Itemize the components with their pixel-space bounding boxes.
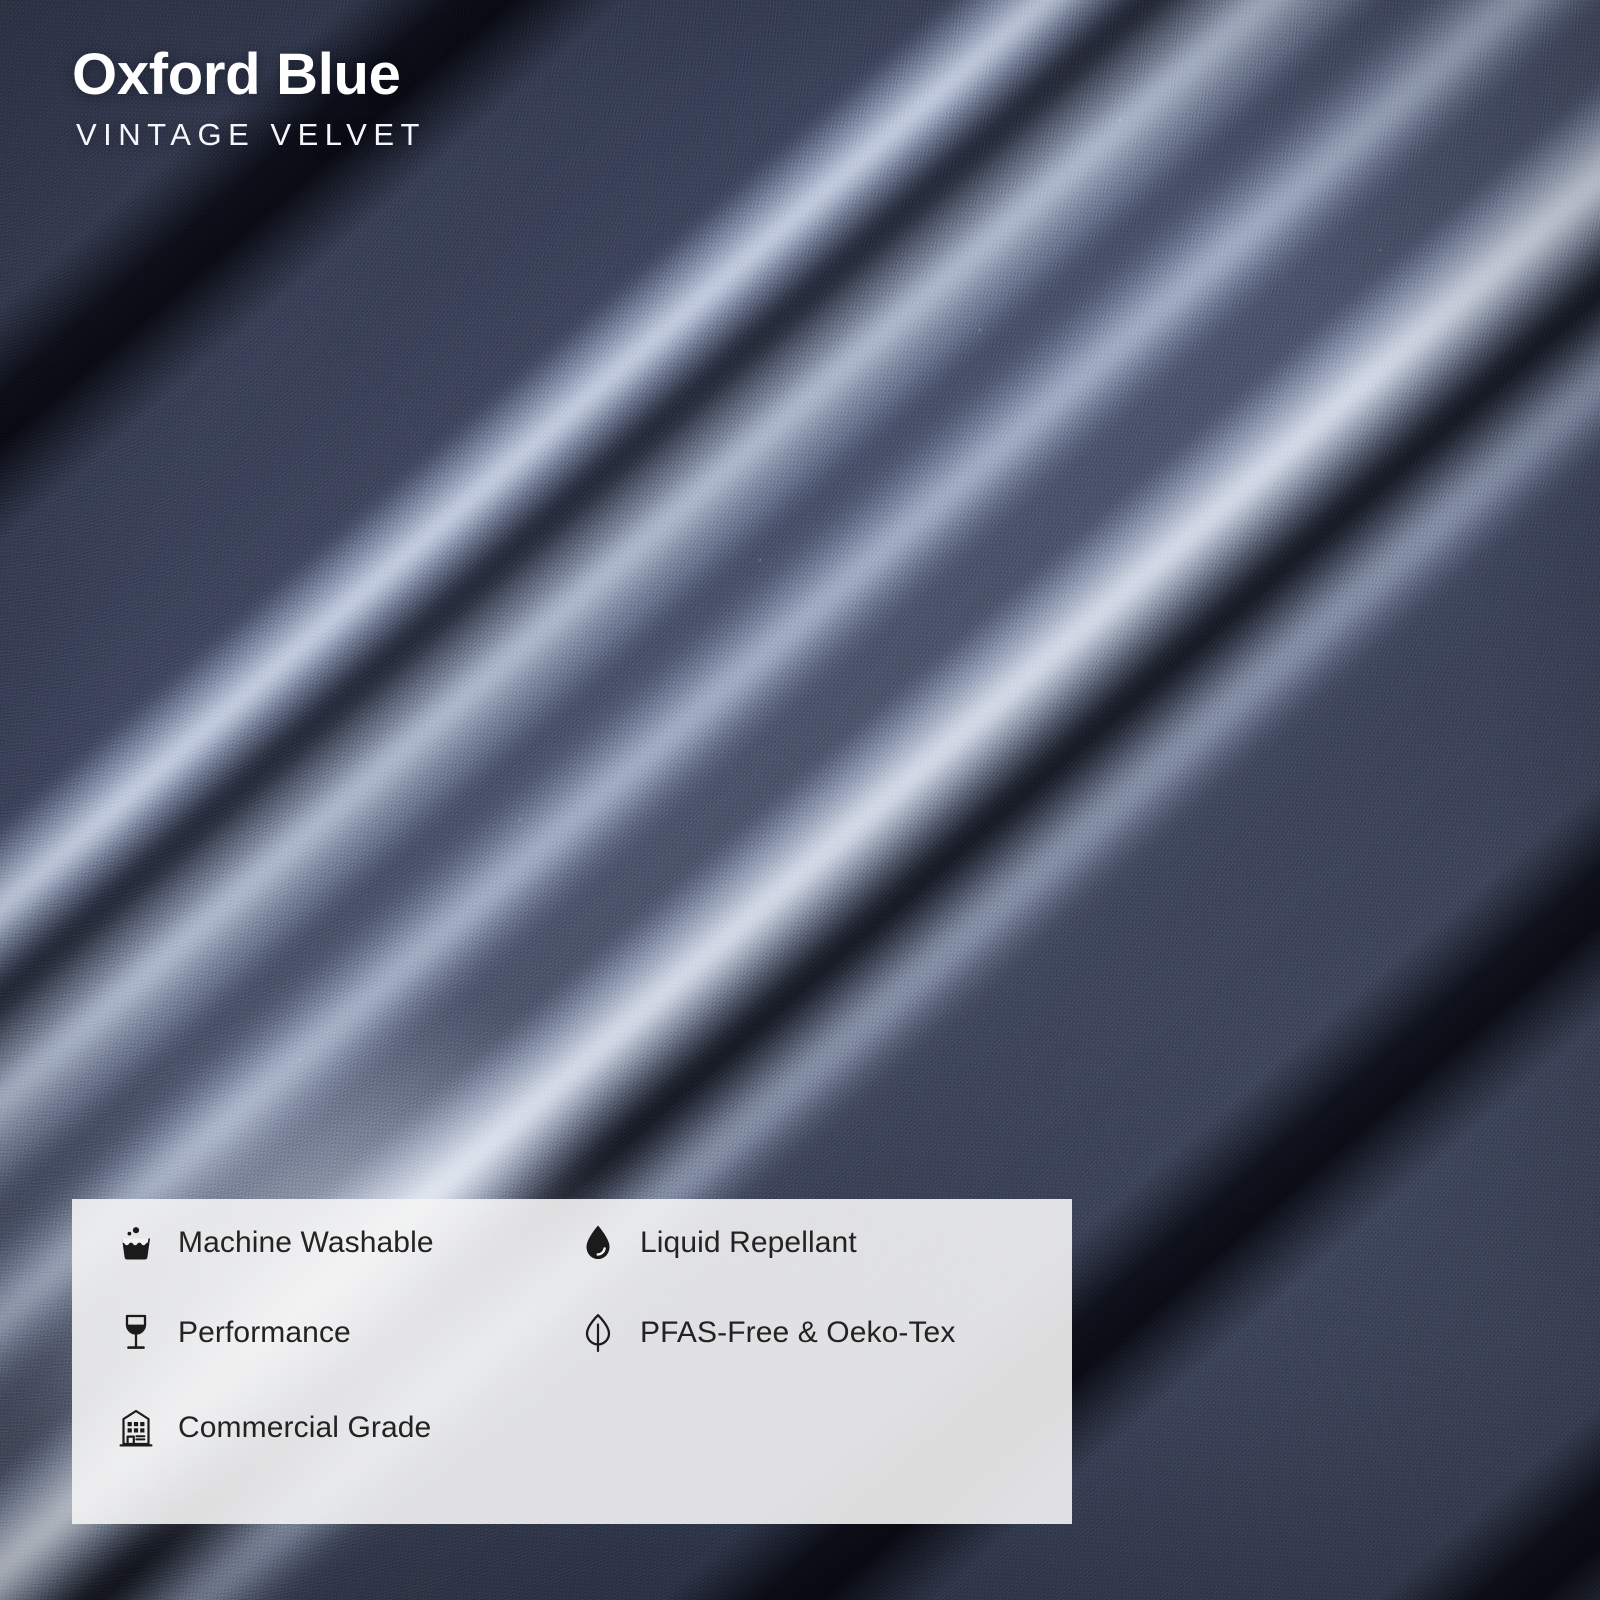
feature-machine-washable[interactable]: Machine Washable (108, 1215, 434, 1271)
feature-pfas-free[interactable]: PFAS-Free & Oeko-Tex (570, 1305, 955, 1361)
leaf-icon (570, 1310, 626, 1356)
product-collection: VINTAGE VELVET (76, 119, 426, 150)
building-icon (108, 1405, 164, 1451)
fabric-swatch-card: Oxford Blue VINTAGE VELVET Machine Washa… (0, 0, 1600, 1600)
feature-grid: Machine Washable Performance (72, 1199, 1072, 1524)
feature-label: Liquid Repellant (640, 1226, 857, 1260)
product-header: Oxford Blue VINTAGE VELVET (72, 44, 426, 150)
feature-label: Commercial Grade (178, 1411, 431, 1445)
feature-performance[interactable]: Performance (108, 1305, 351, 1361)
feature-label: Machine Washable (178, 1226, 434, 1260)
wine-glass-icon (108, 1310, 164, 1356)
water-droplet-icon (570, 1220, 626, 1266)
product-name: Oxford Blue (72, 44, 426, 105)
washing-tub-icon (108, 1220, 164, 1266)
feature-label: Performance (178, 1316, 351, 1350)
feature-liquid-repellant[interactable]: Liquid Repellant (570, 1215, 857, 1271)
feature-commercial-grade[interactable]: Commercial Grade (108, 1400, 431, 1456)
feature-panel: Machine Washable Performance (72, 1199, 1072, 1524)
feature-label: PFAS-Free & Oeko-Tex (640, 1316, 955, 1350)
